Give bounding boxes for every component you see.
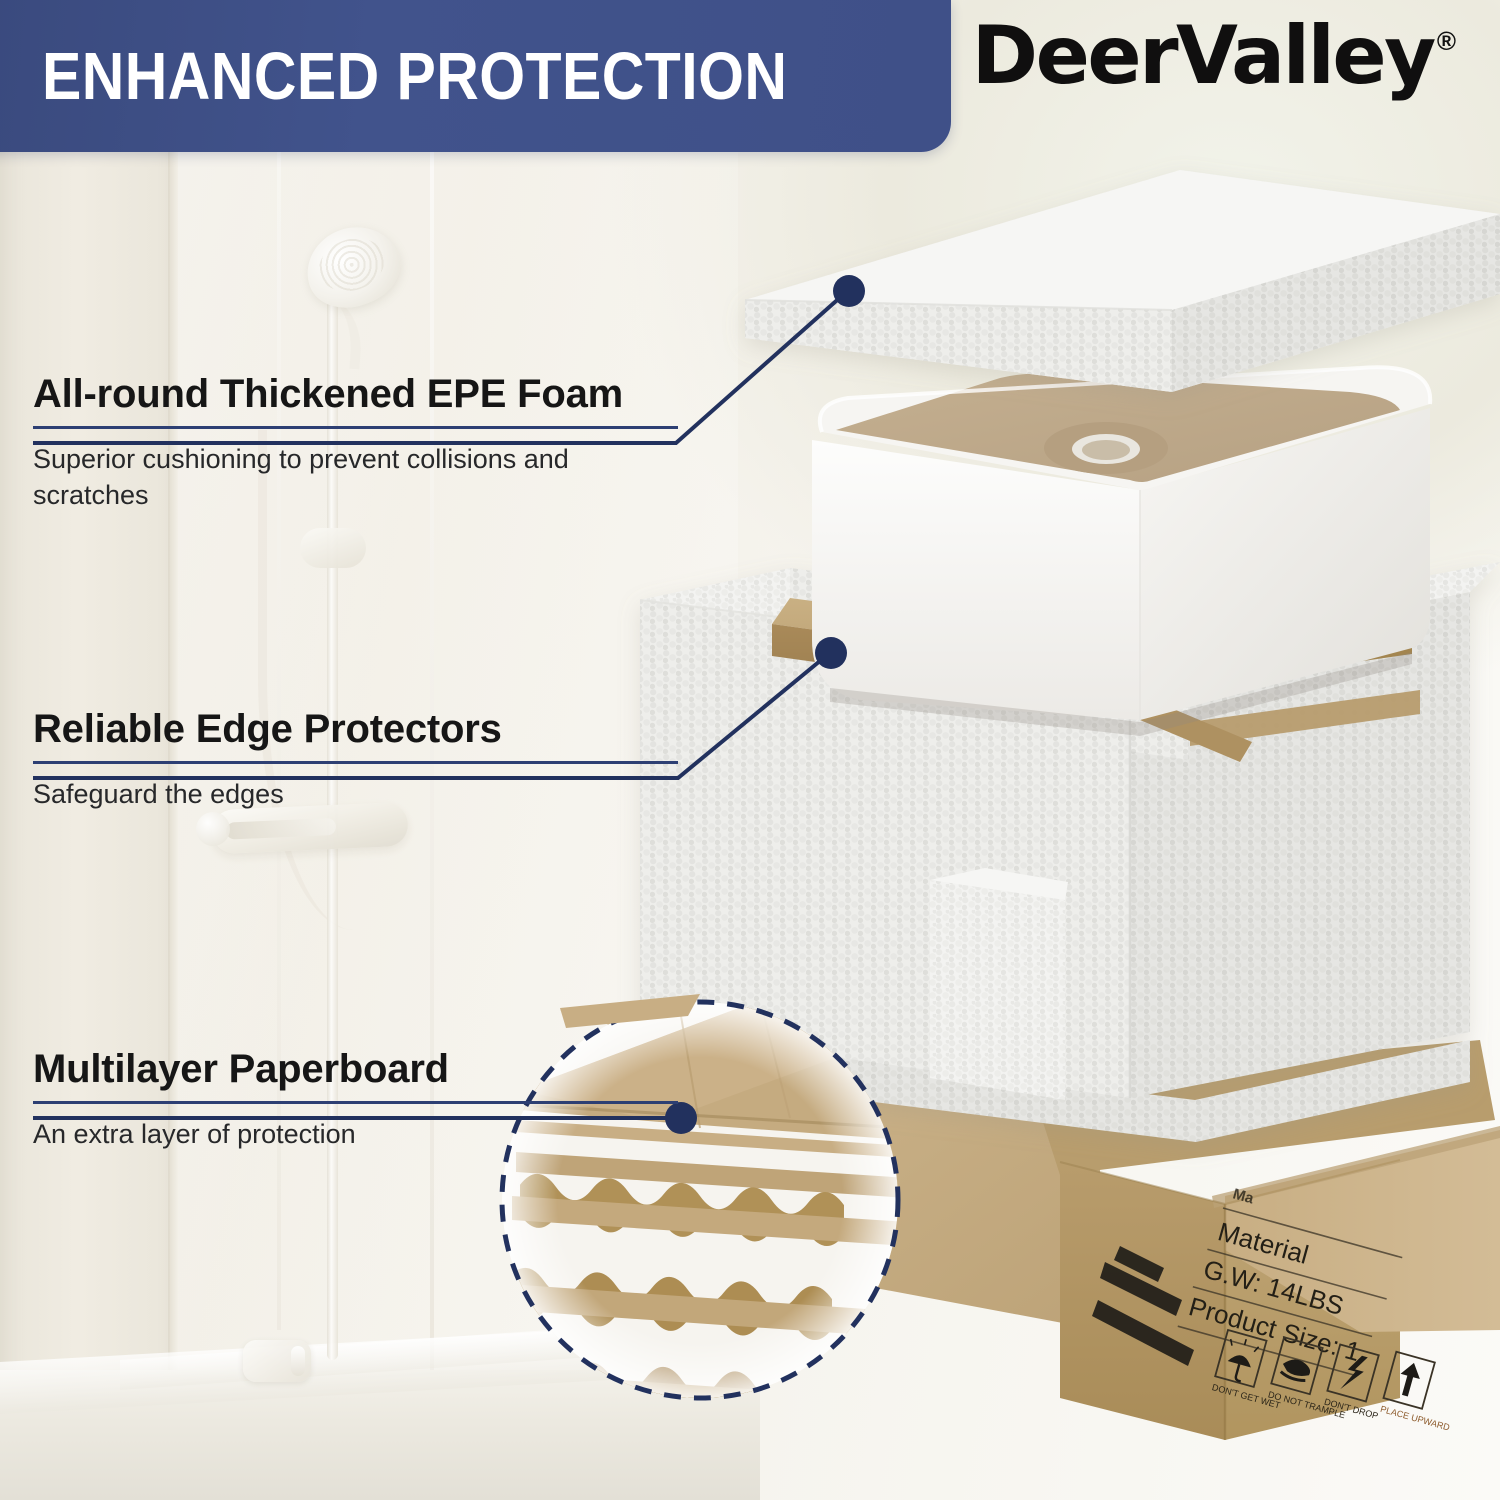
registered-trademark-icon: ® [1437,26,1456,57]
callout-subtitle: Superior cushioning to prevent collision… [33,442,633,513]
brand-logo: DeerValley ® [972,16,1456,96]
vessel-sink-basin [812,367,1430,736]
callout-title: Multilayer Paperboard [33,1047,678,1092]
callout-subtitle: Safeguard the edges [33,777,678,813]
callout-subtitle: An extra layer of protection [33,1117,678,1153]
infographic-canvas: Ma Material G.W: 14LBS Product Size: 1 D… [0,0,1500,1500]
marker-dot-epe-foam [833,275,865,307]
callout-multilayer-paperboard: Multilayer Paperboard An extra layer of … [33,1047,678,1153]
callout-underline [33,761,678,764]
callout-epe-foam: All-round Thickened EPE Foam Superior cu… [33,372,678,513]
page-title: ENHANCED PROTECTION [42,38,787,115]
brand-logo-text: DeerValley [972,16,1434,96]
callout-edge-protectors: Reliable Edge Protectors Safeguard the e… [33,707,678,813]
callout-title: All-round Thickened EPE Foam [33,372,678,417]
header-banner: ENHANCED PROTECTION [0,0,951,152]
callout-underline [33,1101,678,1104]
callout-underline [33,426,678,429]
marker-dot-edge-protectors [815,637,847,669]
this-side-up-icon-caption: PLACE UPWARD [1379,1404,1451,1433]
callout-title: Reliable Edge Protectors [33,707,678,752]
